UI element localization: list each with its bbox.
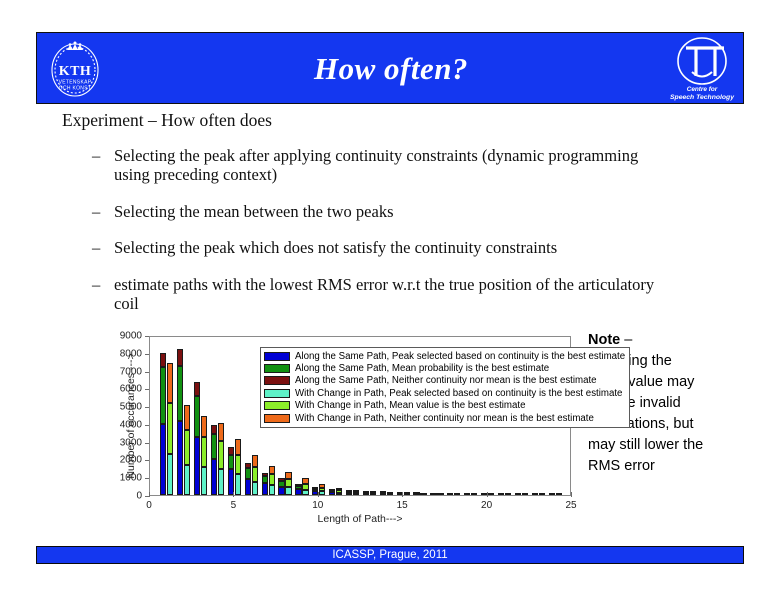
bar-stack bbox=[380, 493, 386, 495]
bar-segment bbox=[437, 493, 443, 495]
footer-text: ICASSP, Prague, 2011 bbox=[332, 549, 447, 561]
bar-segment bbox=[194, 437, 200, 495]
bar-segment bbox=[505, 493, 511, 495]
legend-swatch bbox=[264, 389, 290, 398]
bar-segment bbox=[177, 421, 183, 495]
bar-segment bbox=[201, 467, 207, 495]
list-item: – Selecting the peak after applying cont… bbox=[92, 146, 692, 185]
bar-segment bbox=[167, 454, 173, 495]
bar-segment bbox=[167, 363, 173, 402]
slide-footer: ICASSP, Prague, 2011 bbox=[36, 546, 744, 564]
bar-segment bbox=[194, 396, 200, 437]
bar-segment bbox=[228, 447, 234, 455]
legend-swatch bbox=[264, 414, 290, 423]
legend-swatch bbox=[264, 401, 290, 410]
note-dash: – bbox=[620, 332, 632, 348]
x-tick-mark bbox=[318, 492, 319, 497]
legend-item: Along the Same Path, Neither continuity … bbox=[264, 375, 625, 387]
bullet-dash: – bbox=[92, 202, 114, 221]
bar-stack bbox=[278, 478, 284, 495]
bar-stack bbox=[252, 455, 258, 495]
bar-segment bbox=[404, 492, 410, 494]
bar-segment bbox=[549, 493, 555, 495]
bar-segment bbox=[218, 441, 224, 469]
bar-segment bbox=[329, 492, 335, 495]
bar-segment bbox=[269, 474, 275, 485]
list-item: – estimate paths with the lowest RMS err… bbox=[92, 275, 692, 314]
x-tick-label: 10 bbox=[312, 500, 323, 511]
bar-segment bbox=[336, 493, 342, 495]
legend-swatch bbox=[264, 364, 290, 373]
x-tick-mark bbox=[402, 492, 403, 497]
bar-segment bbox=[160, 424, 166, 495]
bar-segment bbox=[184, 405, 190, 431]
x-tick-mark bbox=[571, 492, 572, 497]
bar-segment bbox=[262, 476, 268, 483]
bar-segment bbox=[420, 493, 426, 495]
note-heading: Note bbox=[588, 332, 620, 348]
legend-item: With Change in Path, Mean value is the b… bbox=[264, 400, 625, 412]
bullet-text: Selecting the peak after applying contin… bbox=[114, 146, 659, 185]
bar-segment bbox=[201, 437, 207, 466]
bar-stack bbox=[430, 494, 436, 495]
bullet-text: Selecting the peak which does not satisf… bbox=[114, 238, 557, 257]
y-tick-label: 0 bbox=[136, 491, 142, 502]
bar-segment bbox=[413, 492, 419, 494]
legend-item: Along the Same Path, Mean probability is… bbox=[264, 362, 625, 374]
occurrence-bar-chart: Number of occurances ---> 01000200030004… bbox=[103, 330, 575, 535]
y-tick-label: 6000 bbox=[120, 384, 142, 395]
bar-segment bbox=[464, 493, 470, 495]
bar-segment bbox=[380, 491, 386, 493]
bar-stack bbox=[184, 405, 190, 495]
bullet-text: estimate paths with the lowest RMS error… bbox=[114, 275, 659, 314]
y-tick-label: 2000 bbox=[120, 455, 142, 466]
bar-stack bbox=[420, 494, 426, 495]
bar-stack bbox=[413, 494, 419, 495]
legend-label: Along the Same Path, Peak selected based… bbox=[295, 351, 625, 362]
bar-stack bbox=[194, 382, 200, 495]
y-tick-label: 1000 bbox=[120, 473, 142, 484]
bar-segment bbox=[177, 349, 183, 366]
bar-segment bbox=[471, 493, 477, 495]
experiment-heading: Experiment – How often does bbox=[62, 110, 272, 131]
bar-segment bbox=[515, 493, 521, 495]
bar-segment bbox=[353, 490, 359, 492]
bar-segment bbox=[319, 488, 325, 492]
bar-segment bbox=[295, 489, 301, 495]
bar-segment bbox=[160, 367, 166, 424]
bullet-list: – Selecting the peak after applying cont… bbox=[92, 146, 692, 331]
bar-stack bbox=[228, 447, 234, 495]
bar-segment bbox=[262, 483, 268, 495]
svg-text:Centre for: Centre for bbox=[687, 86, 718, 93]
legend-item: With Change in Path, Neither continuity … bbox=[264, 412, 625, 424]
bar-segment bbox=[160, 353, 166, 367]
bar-segment bbox=[269, 485, 275, 495]
legend-label: With Change in Path, Mean value is the b… bbox=[295, 400, 525, 411]
bar-segment bbox=[252, 467, 258, 481]
bar-segment bbox=[430, 493, 436, 495]
bar-segment bbox=[447, 493, 453, 495]
bar-segment bbox=[269, 466, 275, 474]
legend-item: Along the Same Path, Peak selected based… bbox=[264, 350, 625, 362]
bar-segment bbox=[245, 479, 251, 495]
legend-label: With Change in Path, Peak selected based… bbox=[295, 388, 622, 399]
bar-stack bbox=[363, 493, 369, 495]
slide-header: KTH VETENSKAP OCH KONST How often? Centr… bbox=[36, 32, 744, 104]
x-tick-mark bbox=[149, 492, 150, 497]
bar-segment bbox=[522, 493, 528, 495]
x-tick-label: 5 bbox=[231, 500, 237, 511]
bar-segment bbox=[201, 416, 207, 437]
bar-segment bbox=[184, 465, 190, 495]
bar-segment bbox=[295, 486, 301, 489]
bar-segment bbox=[336, 488, 342, 490]
bar-segment bbox=[194, 382, 200, 396]
slide: KTH VETENSKAP OCH KONST How often? Centr… bbox=[0, 0, 776, 600]
plot-area: Along the Same Path, Peak selected based… bbox=[149, 336, 571, 496]
bar-segment bbox=[454, 493, 460, 495]
bar-stack bbox=[211, 425, 217, 495]
bar-segment bbox=[387, 492, 393, 494]
bar-segment bbox=[177, 366, 183, 421]
bar-stack bbox=[404, 494, 410, 495]
bar-stack bbox=[295, 484, 301, 495]
x-tick-label: 25 bbox=[565, 500, 576, 511]
bar-segment bbox=[235, 474, 241, 495]
bullet-dash: – bbox=[92, 238, 114, 257]
bullet-text: Selecting the mean between the two peaks bbox=[114, 202, 394, 221]
bar-segment bbox=[539, 493, 545, 495]
bar-stack bbox=[346, 491, 352, 495]
bar-stack bbox=[329, 490, 335, 495]
bar-segment bbox=[370, 491, 376, 493]
legend-label: With Change in Path, Neither continuity … bbox=[295, 413, 594, 424]
y-tick-label: 5000 bbox=[120, 402, 142, 413]
speech-technology-logo: Centre for Speech Technology bbox=[662, 34, 742, 103]
bar-segment bbox=[278, 481, 284, 487]
bar-segment bbox=[346, 493, 352, 495]
x-tick-mark bbox=[233, 492, 234, 497]
y-tick-label: 7000 bbox=[120, 366, 142, 377]
bar-segment bbox=[363, 491, 369, 493]
bar-stack bbox=[319, 484, 325, 495]
bar-segment bbox=[211, 459, 217, 495]
bar-segment bbox=[262, 473, 268, 476]
y-tick-label: 4000 bbox=[120, 419, 142, 430]
bar-stack bbox=[353, 490, 359, 495]
bar-stack bbox=[262, 473, 268, 495]
bar-segment bbox=[252, 455, 258, 467]
y-tick-label: 9000 bbox=[120, 331, 142, 342]
x-tick-label: 15 bbox=[397, 500, 408, 511]
bar-segment bbox=[245, 468, 251, 479]
bar-segment bbox=[278, 487, 284, 495]
list-item: – Selecting the peak which does not sati… bbox=[92, 238, 692, 257]
bar-stack bbox=[160, 353, 166, 495]
bar-segment bbox=[336, 490, 342, 492]
y-axis-ticks: 0100020003000400050006000700080009000 bbox=[103, 330, 147, 497]
bar-segment bbox=[278, 478, 284, 481]
bar-segment bbox=[319, 491, 325, 495]
bar-stack bbox=[235, 439, 241, 495]
bar-segment bbox=[285, 487, 291, 495]
legend-swatch bbox=[264, 376, 290, 385]
bar-stack bbox=[167, 363, 173, 495]
bar-segment bbox=[245, 463, 251, 468]
slide-title: How often? bbox=[37, 33, 745, 105]
bar-segment bbox=[556, 493, 562, 495]
bar-segment bbox=[302, 484, 308, 490]
bar-segment bbox=[302, 490, 308, 495]
bar-segment bbox=[211, 425, 217, 434]
bar-segment bbox=[167, 403, 173, 455]
bar-segment bbox=[532, 493, 538, 495]
bar-segment bbox=[295, 484, 301, 486]
legend-swatch bbox=[264, 352, 290, 361]
svg-text:Speech Technology: Speech Technology bbox=[670, 94, 735, 101]
x-axis-label: Length of Path---> bbox=[149, 513, 571, 525]
bar-stack bbox=[370, 492, 376, 495]
chart-legend: Along the Same Path, Peak selected based… bbox=[260, 347, 630, 428]
bar-stack bbox=[218, 423, 224, 495]
bar-stack bbox=[245, 463, 251, 495]
bar-segment bbox=[235, 439, 241, 455]
bar-stack bbox=[387, 493, 393, 495]
bar-segment bbox=[312, 487, 318, 489]
bar-segment bbox=[211, 434, 217, 459]
bar-segment bbox=[228, 455, 234, 469]
bar-stack bbox=[336, 488, 342, 495]
bar-segment bbox=[498, 493, 504, 495]
bar-segment bbox=[235, 455, 241, 474]
bar-segment bbox=[218, 423, 224, 441]
bar-segment bbox=[488, 493, 494, 495]
bar-stack bbox=[177, 349, 183, 495]
x-tick-mark bbox=[487, 492, 488, 497]
bar-segment bbox=[218, 469, 224, 495]
bar-stack bbox=[201, 416, 207, 495]
bar-segment bbox=[302, 478, 308, 484]
y-tick-label: 8000 bbox=[120, 348, 142, 359]
bar-segment bbox=[329, 489, 335, 491]
bar-segment bbox=[184, 430, 190, 465]
x-tick-label: 0 bbox=[146, 500, 152, 511]
bar-stack bbox=[302, 478, 308, 495]
list-item: – Selecting the mean between the two pea… bbox=[92, 202, 692, 221]
legend-label: Along the Same Path, Mean probability is… bbox=[295, 363, 549, 374]
bar-stack bbox=[285, 472, 291, 495]
bar-stack bbox=[269, 466, 275, 495]
legend-item: With Change in Path, Peak selected based… bbox=[264, 387, 625, 399]
bullet-dash: – bbox=[92, 146, 114, 185]
bar-segment bbox=[319, 484, 325, 488]
bullet-dash: – bbox=[92, 275, 114, 314]
bar-segment bbox=[346, 490, 352, 492]
legend-label: Along the Same Path, Neither continuity … bbox=[295, 375, 597, 386]
bar-segment bbox=[285, 472, 291, 479]
bar-segment bbox=[353, 493, 359, 495]
bar-segment bbox=[285, 479, 291, 486]
y-tick-label: 3000 bbox=[120, 437, 142, 448]
bar-segment bbox=[252, 482, 258, 496]
x-tick-label: 20 bbox=[481, 500, 492, 511]
